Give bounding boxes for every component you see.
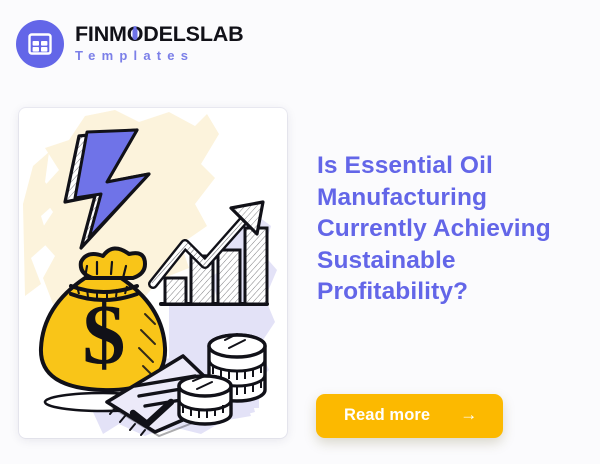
svg-text:$: $: [83, 286, 126, 382]
brand-name-o-letter: O: [127, 23, 144, 46]
chart-bar: [218, 250, 240, 304]
brand-logo[interactable]: FINMODELSLAB Templates: [16, 20, 243, 68]
illustration-card: $: [19, 108, 287, 438]
page-title: Is Essential Oil Manufacturing Currently…: [317, 150, 585, 308]
power-drop-icon: [133, 28, 138, 40]
brand-mark-circle: [16, 20, 64, 68]
chart-bar: [245, 228, 267, 304]
brand-subtitle: Templates: [75, 47, 243, 66]
brand-wordmark: FINMODELSLAB Templates: [75, 22, 243, 65]
read-more-label: Read more: [344, 407, 430, 424]
read-more-button[interactable]: Read more →: [316, 394, 503, 438]
arrow-right-icon: →: [460, 406, 477, 423]
chart-bar: [165, 278, 186, 304]
finance-illustration: $: [19, 108, 287, 438]
brand-name: FINMODELSLAB: [75, 23, 243, 46]
brand-name-part1: FINM: [75, 22, 127, 46]
grid-table-icon: [27, 31, 53, 57]
promo-banner: FINMODELSLAB Templates: [0, 0, 600, 464]
brand-name-part2: DELSLAB: [143, 22, 243, 46]
coin-stack-front: [179, 376, 231, 424]
